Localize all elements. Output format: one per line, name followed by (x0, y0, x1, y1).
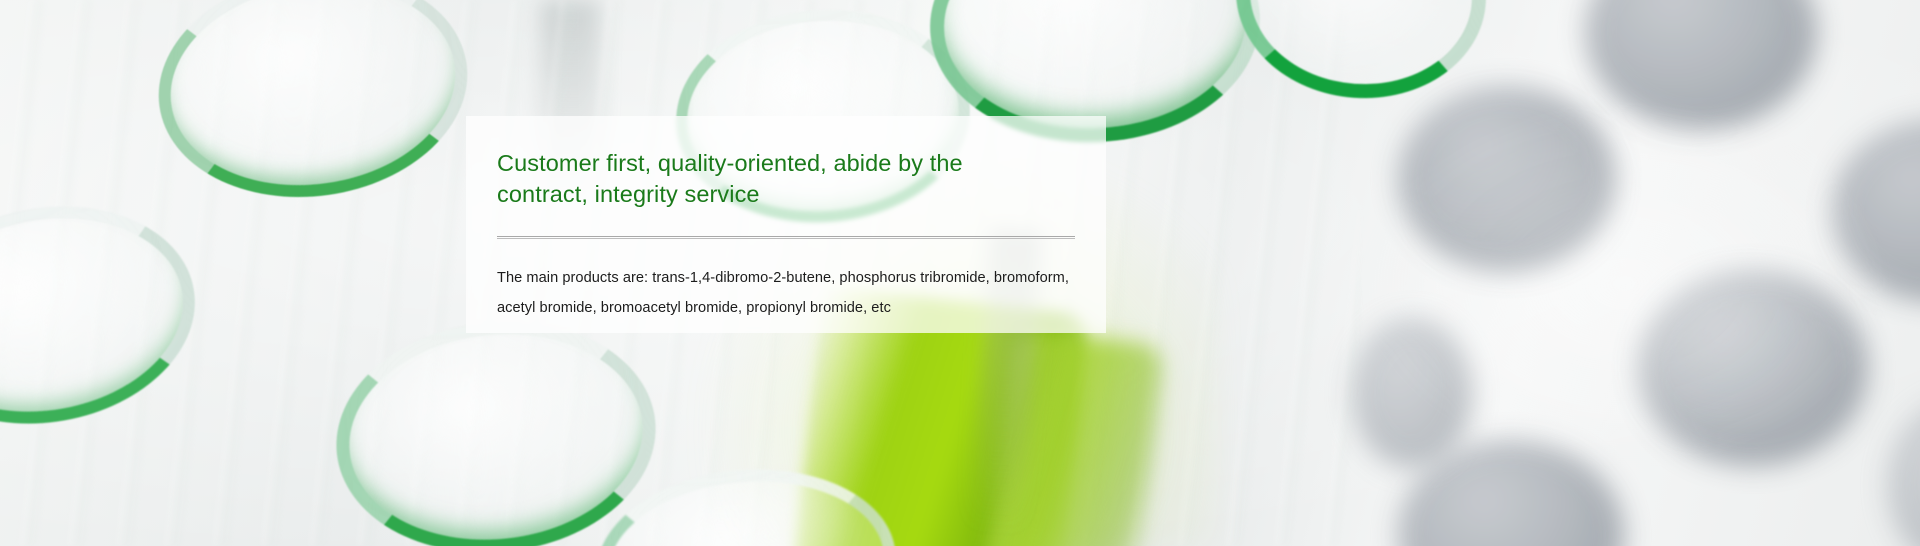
rack-hole (1352, 318, 1472, 468)
rack-hole (1585, 0, 1817, 130)
hero-body-text: The main products are: trans-1,4-dibromo… (497, 263, 1073, 323)
rack-hole (1888, 400, 1920, 546)
rack-hole (1638, 270, 1868, 466)
hero-text-card: Customer first, quality-oriented, abide … (466, 116, 1106, 333)
hero-banner: Customer first, quality-oriented, abide … (0, 0, 1920, 546)
rack-hole (1832, 120, 1920, 302)
divider (497, 236, 1075, 239)
hero-title: Customer first, quality-oriented, abide … (497, 148, 1037, 210)
rack-hole (1398, 86, 1616, 272)
